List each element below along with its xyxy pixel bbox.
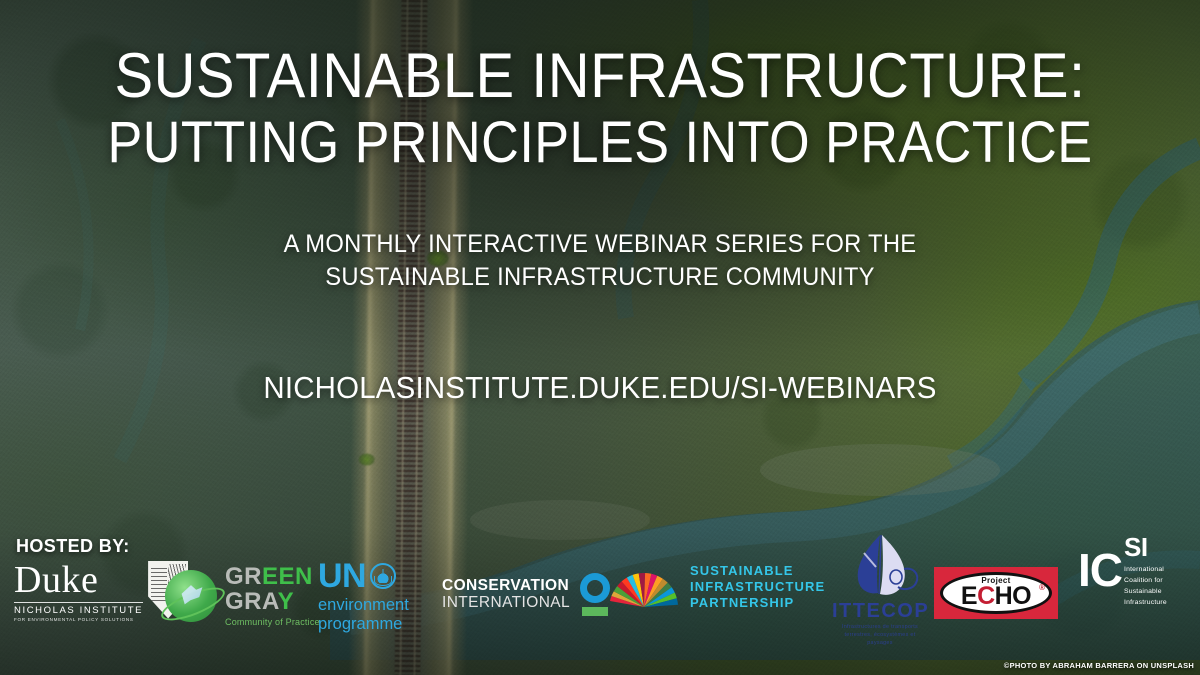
slide-content: SUSTAINABLE INFRASTRUCTURE: PUTTING PRIN… [0,0,1200,675]
un-top-row: UN [318,559,409,593]
icsi-sub-3: Sustainable [1124,586,1167,597]
ittecop-sub-2: terrestres, écosystèmes et paysages [832,631,928,647]
icsi-sub-1: International [1124,564,1167,575]
icsi-si-letters: SI [1124,537,1167,558]
ci-line-2: INTERNATIONAL [442,595,570,612]
icsi-ic-letters: IC [1078,551,1122,590]
duke-wordmark: Duke NICHOLAS INSTITUTE FOR ENVIRONMENTA… [14,561,143,622]
logo-conservation-international[interactable]: CONSERVATION INTERNATIONAL [442,573,614,616]
green-gray-tagline: Community of Practice [225,618,320,627]
ci-ring-icon [580,573,610,603]
duke-name: Duke [14,561,143,599]
icsi-subtitle: International Coalition for Sustainable … [1124,564,1167,608]
ci-line-1: CONSERVATION [442,578,570,595]
ittecop-sub-1: Infrastructures de transports [832,623,928,631]
title-line-2: PUTTING PRINCIPLES INTO PRACTICE [60,112,1140,173]
title-line-1: SUSTAINABLE INFRASTRUCTURE: [48,44,1152,110]
duke-institute-line: NICHOLAS INSTITUTE [14,602,143,616]
sip-line-1: SUSTAINABLE [690,563,825,579]
photo-credit: ©PHOTO BY ABRAHAM BARRERA ON UNSPLASH [1004,661,1194,670]
green-gray-line-2: GRAY [225,590,320,614]
echo-wordmark: ECHO [961,584,1031,609]
subtitle-line-2: SUSTAINABLE INFRASTRUCTURE COMMUNITY [30,261,1170,294]
un-emblem-icon [370,563,396,589]
logo-un-environment-programme[interactable]: UN environment programme [318,559,409,635]
logo-project-echo[interactable]: Project ECHO ® [934,567,1058,619]
hosted-by-label: HOSTED BY: [16,536,130,557]
icsi-right-block: SI International Coalition for Sustainab… [1124,551,1167,608]
logo-sustainable-infrastructure-partnership[interactable]: SUSTAINABLE INFRASTRUCTURE PARTNERSHIP [608,563,825,611]
un-line-2: environment [318,596,409,615]
icsi-sub-2: Coalition for [1124,575,1167,586]
echo-registered-mark: ® [1039,583,1045,592]
partner-logo-bar: Duke NICHOLAS INSTITUTE FOR ENVIRONMENTA… [0,555,1200,647]
echo-oval: Project ECHO ® [940,572,1052,614]
un-line-3: programme [318,615,409,634]
un-abbreviation: UN [318,559,366,593]
green-gray-wordmark: GREEN GRAY Community of Practice [225,565,320,627]
logo-icsi[interactable]: IC SI International Coalition for Sustai… [1078,551,1167,608]
icsi-row: IC SI International Coalition for Sustai… [1078,551,1167,608]
duke-tagline: FOR ENVIRONMENTAL POLICY SOLUTIONS [14,618,143,623]
logo-ittecop[interactable]: ITTECOP Infrastructures de transports te… [832,533,928,647]
sip-wordmark: SUSTAINABLE INFRASTRUCTURE PARTNERSHIP [690,563,825,611]
ci-green-bar-icon [582,607,608,616]
conservation-international-wordmark: CONSERVATION INTERNATIONAL [442,578,570,611]
sdg-color-fan-icon [608,567,680,607]
webinar-url[interactable]: NICHOLASINSTITUTE.DUKE.EDU/SI-WEBINARS [30,370,1170,406]
ittecop-leaf-icon [832,533,928,599]
echo-project-label: Project [981,576,1010,585]
ittecop-name: ITTECOP [832,600,928,623]
globe-icon [165,570,217,622]
page-title: SUSTAINABLE INFRASTRUCTURE: PUTTING PRIN… [0,44,1200,173]
icsi-sub-4: Infrastructure [1124,597,1167,608]
subtitle: A MONTHLY INTERACTIVE WEBINAR SERIES FOR… [30,228,1170,293]
sip-line-3: PARTNERSHIP [690,595,825,611]
logo-green-gray-community-of-practice[interactable]: GREEN GRAY Community of Practice [165,565,320,627]
subtitle-line-1: A MONTHLY INTERACTIVE WEBINAR SERIES FOR… [30,228,1170,261]
sip-line-2: INFRASTRUCTURE [690,579,825,595]
green-gray-line-1: GREEN [225,565,320,589]
echo-red-box: Project ECHO ® [934,567,1058,619]
webinar-title-slide: SUSTAINABLE INFRASTRUCTURE: PUTTING PRIN… [0,0,1200,675]
